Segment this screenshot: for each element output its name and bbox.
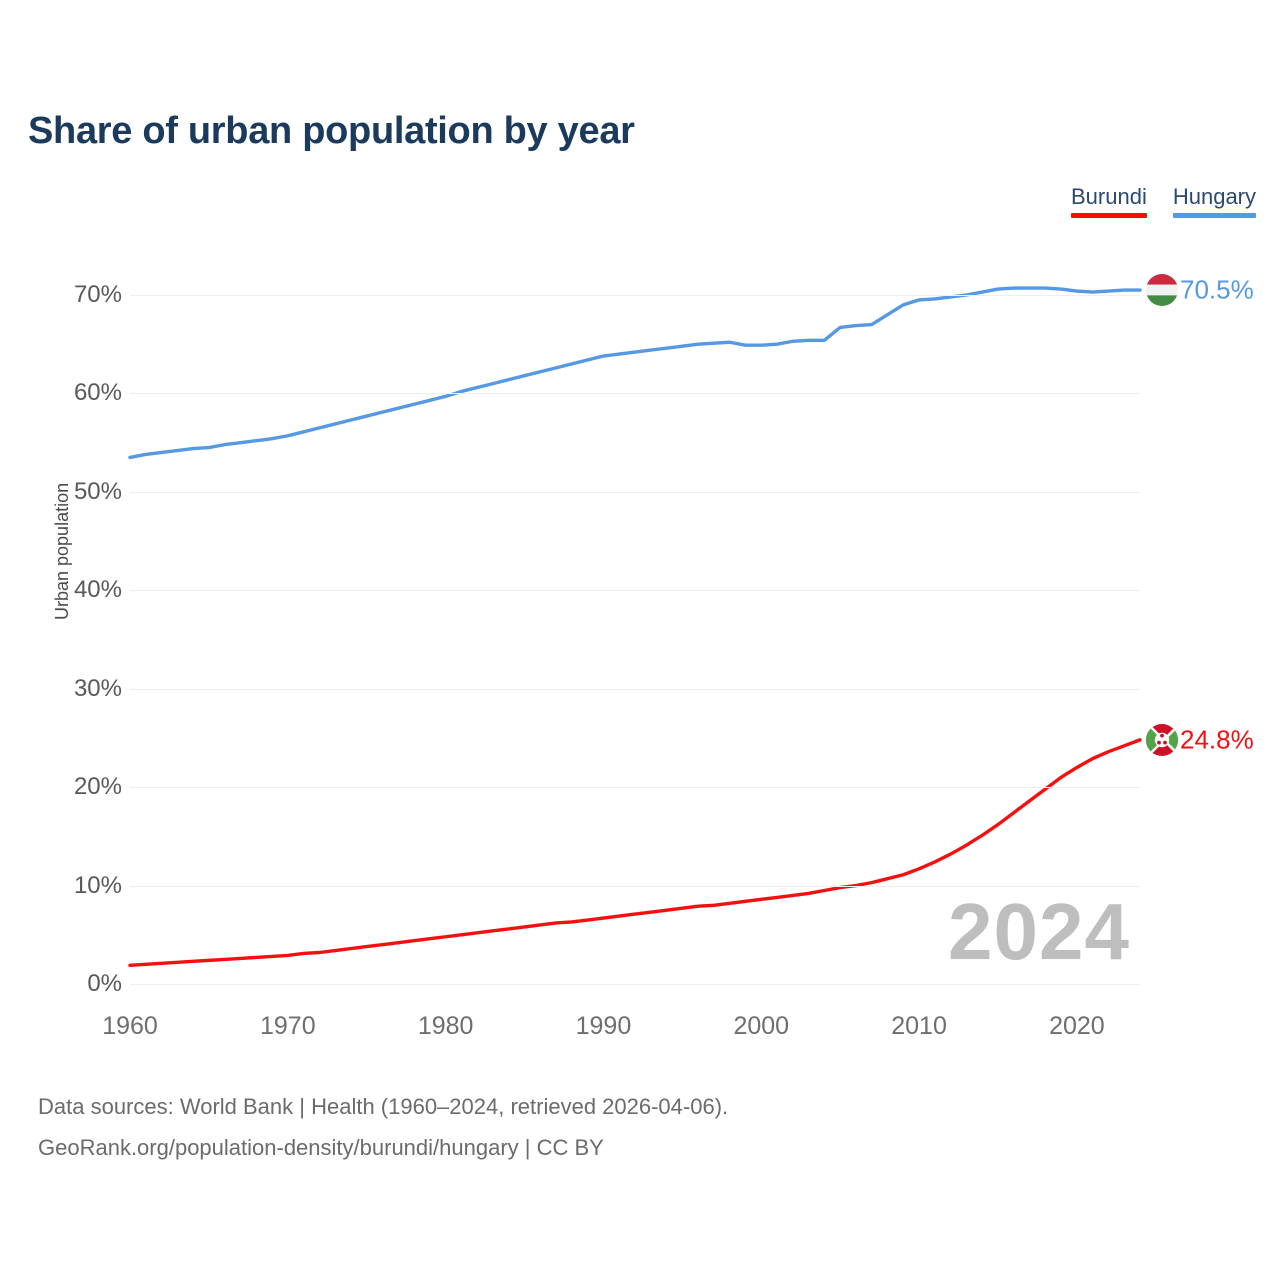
footer-line-2: GeoRank.org/population-density/burundi/h…: [38, 1127, 728, 1168]
series-line-hungary: [130, 288, 1140, 457]
y-tick-label: 0%: [87, 970, 122, 998]
chart-legend: Burundi Hungary: [1071, 184, 1256, 218]
x-tick-label: 1980: [418, 1012, 474, 1041]
hungary-flag-icon: [1146, 274, 1178, 306]
x-tick-label: 1970: [260, 1012, 316, 1041]
y-tick-label: 10%: [74, 872, 122, 900]
x-tick-label: 1990: [576, 1012, 632, 1041]
gridline: [130, 492, 1140, 493]
gridline: [130, 689, 1140, 690]
gridline: [130, 886, 1140, 887]
page-title: Share of urban population by year: [28, 110, 635, 153]
legend-item-burundi[interactable]: Burundi: [1071, 184, 1147, 218]
y-tick-label: 20%: [74, 773, 122, 801]
legend-label-burundi: Burundi: [1071, 184, 1147, 210]
end-label-hungary: 70.5%: [1180, 275, 1254, 306]
x-tick-label: 1960: [102, 1012, 158, 1041]
legend-label-hungary: Hungary: [1173, 184, 1256, 210]
gridline: [130, 787, 1140, 788]
y-tick-label: 60%: [74, 379, 122, 407]
y-tick-label: 50%: [74, 478, 122, 506]
chart-root: Share of urban population by year Burund…: [0, 0, 1280, 1280]
plot-area: [130, 295, 1140, 984]
end-label-burundi: 24.8%: [1180, 724, 1254, 755]
legend-swatch-hungary: [1173, 213, 1256, 218]
gridline: [130, 590, 1140, 591]
gridline: [130, 393, 1140, 394]
legend-swatch-burundi: [1071, 213, 1147, 218]
gridline: [130, 295, 1140, 296]
x-tick-label: 2000: [733, 1012, 789, 1041]
series-line-burundi: [130, 740, 1140, 965]
legend-item-hungary[interactable]: Hungary: [1173, 184, 1256, 218]
y-tick-label: 70%: [74, 281, 122, 309]
x-tick-label: 2020: [1049, 1012, 1105, 1041]
footer-line-1: Data sources: World Bank | Health (1960–…: [38, 1086, 728, 1127]
y-tick-label: 30%: [74, 675, 122, 703]
y-axis-title: Urban population: [52, 483, 73, 620]
x-tick-label: 2010: [891, 1012, 947, 1041]
burundi-flag-icon: [1146, 724, 1178, 756]
series-lines: [130, 295, 1140, 984]
footer-credits: Data sources: World Bank | Health (1960–…: [38, 1086, 728, 1168]
y-tick-label: 40%: [74, 576, 122, 604]
gridline: [130, 984, 1140, 985]
